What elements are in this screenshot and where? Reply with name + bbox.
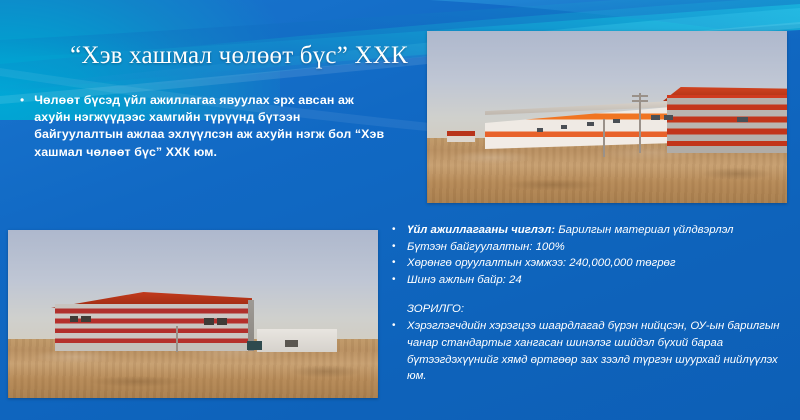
- detail-value: Барилгын материал үйлдвэрлэл: [555, 224, 733, 236]
- window: [613, 119, 620, 123]
- detail-text: Хөрөнгө оруулалтын хэмжээ: 240,000,000 т…: [407, 255, 796, 272]
- photo-scene: [8, 230, 378, 398]
- window: [587, 122, 594, 126]
- bullet-icon: •: [392, 255, 401, 272]
- bullet-icon: •: [392, 272, 401, 289]
- detail-text: Бүтээн байгуулалтын: 100%: [407, 239, 796, 256]
- window: [81, 316, 91, 322]
- detail-row: • Шинэ ажлын байр: 24: [392, 272, 796, 289]
- goal-text: Хэрэглэгчдийн хэрэгцээ шаардлагад бүрэн …: [407, 318, 796, 385]
- utility-pole-arm: [632, 100, 648, 102]
- goal-row: • Хэрэглэгчдийн хэрэгцээ шаардлагад бүрэ…: [392, 318, 796, 385]
- left-paragraph-text: Чөлөөт бүсэд үйл ажиллагаа явуулах эрх а…: [34, 92, 388, 161]
- fence-post: [603, 119, 605, 157]
- warehouse-gable-wall: [667, 95, 787, 153]
- detail-key: Бүтээн байгуулалтын:: [407, 241, 532, 253]
- bullet-icon: •: [16, 92, 24, 161]
- window: [204, 318, 214, 325]
- bullet-icon: •: [392, 318, 401, 335]
- window: [664, 115, 673, 120]
- window: [285, 340, 298, 347]
- bullet-icon: •: [392, 222, 401, 239]
- detail-row: • Хөрөнгө оруулалтын хэмжээ: 240,000,000…: [392, 255, 796, 272]
- photo-scene: [427, 31, 787, 203]
- utility-pole: [639, 93, 641, 153]
- bullet-icon: •: [392, 239, 401, 256]
- window: [217, 318, 227, 325]
- warehouse-striped-wall: [55, 304, 248, 351]
- detail-value: 24: [506, 274, 522, 286]
- spacer: [392, 288, 796, 301]
- detail-key: Шинэ ажлын байр:: [407, 274, 506, 286]
- distant-shed: [447, 131, 475, 142]
- vehicle: [247, 341, 262, 350]
- detail-text: Шинэ ажлын байр: 24: [407, 272, 796, 289]
- utility-pole-arm: [632, 95, 648, 97]
- photo-warehouse-facade: [8, 230, 378, 398]
- window: [737, 117, 748, 122]
- detail-text: Үйл ажиллагааны чиглэл: Барилгын материа…: [407, 222, 796, 239]
- project-details-block: • Үйл ажиллагааны чиглэл: Барилгын матер…: [392, 222, 796, 385]
- window: [537, 128, 543, 132]
- goal-heading: ЗОРИЛГО:: [392, 301, 796, 318]
- presentation-slide: “Хэв хашмал чөлөөт бүс” ХХК • Чөлөөт бүс…: [0, 0, 800, 420]
- detail-key: Үйл ажиллагааны чиглэл:: [407, 224, 555, 236]
- window: [651, 115, 660, 120]
- detail-row: • Бүтээн байгуулалтын: 100%: [392, 239, 796, 256]
- detail-value: 100%: [532, 241, 564, 253]
- left-bullet-item: • Чөлөөт бүсэд үйл ажиллагаа явуулах эрх…: [16, 92, 388, 161]
- fence-post: [176, 326, 178, 352]
- page-title: “Хэв хашмал чөлөөт бүс” ХХК: [44, 42, 434, 71]
- window: [561, 125, 567, 129]
- window: [70, 316, 78, 322]
- detail-key: Хөрөнгө оруулалтын хэмжээ:: [407, 257, 566, 269]
- detail-row: • Үйл ажиллагааны чиглэл: Барилгын матер…: [392, 222, 796, 239]
- photo-warehouse-perspective: [427, 31, 787, 203]
- detail-value: 240,000,000 төгрөг: [566, 257, 675, 269]
